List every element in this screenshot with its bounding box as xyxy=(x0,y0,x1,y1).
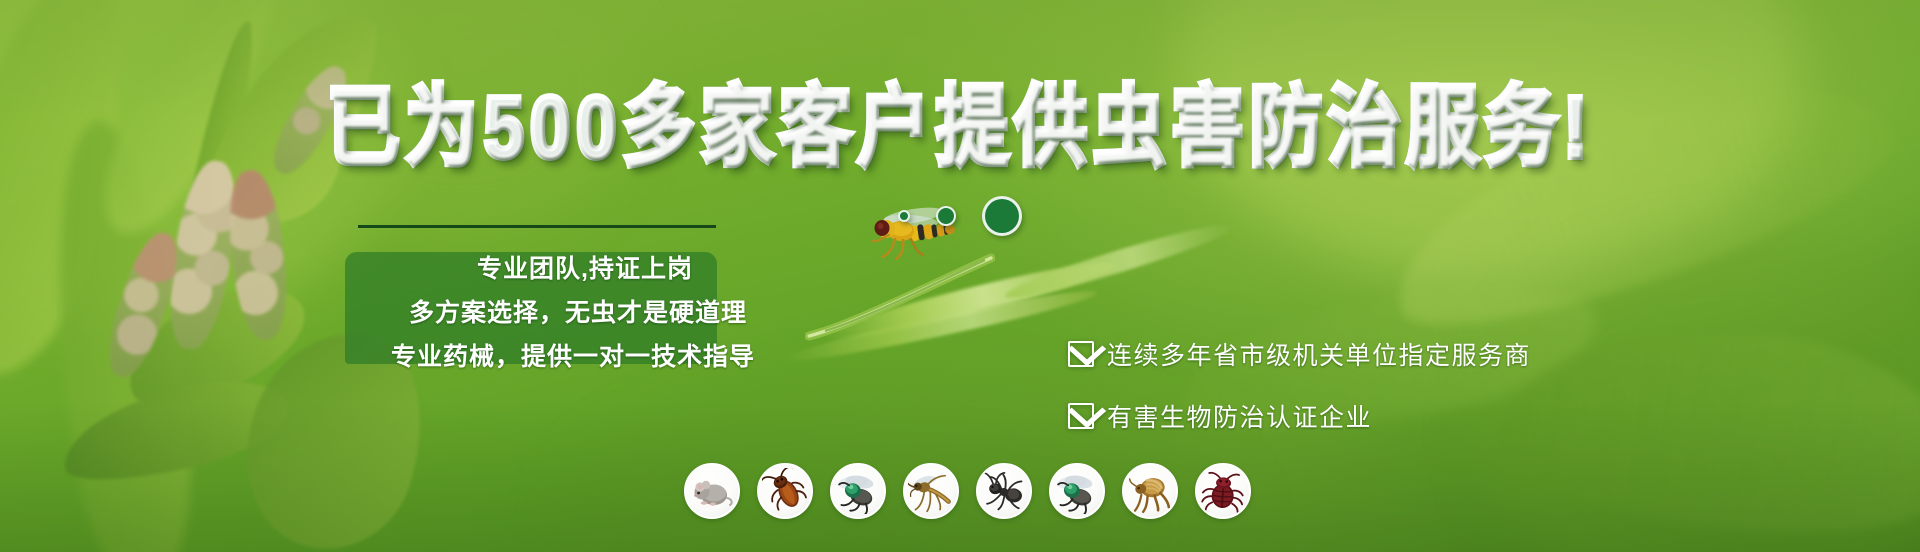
checklist-label-2: 有害生物防治认证企业 xyxy=(1107,398,1372,434)
checklist-label-1: 连续多年省市级机关单位指定服务商 xyxy=(1107,336,1531,372)
slogan-line-1: 专业团队,持证上岗 xyxy=(345,247,825,291)
mosquito-icon[interactable] xyxy=(903,463,959,519)
slogan-line-3: 专业药械，提供一对一技术指导 xyxy=(321,335,825,379)
slogan-line-2: 多方案选择，无虫才是硬道理 xyxy=(331,291,825,335)
headline-text: 已为500多家客户提供虫害防治服务! xyxy=(327,78,1593,176)
list-item: 有害生物防治认证企业 xyxy=(1068,398,1531,434)
bedbug-icon[interactable] xyxy=(1195,463,1251,519)
dot-small xyxy=(898,210,910,222)
page-title: 已为500多家客户提供虫害防治服务! xyxy=(19,84,1901,171)
pest-icon-strip xyxy=(684,463,1251,519)
fly-icon[interactable] xyxy=(830,463,886,519)
ant-icon[interactable] xyxy=(976,463,1032,519)
fly-icon[interactable] xyxy=(1049,463,1105,519)
list-item: 连续多年省市级机关单位指定服务商 xyxy=(1068,336,1531,372)
credentials-checklist: 连续多年省市级机关单位指定服务商 有害生物防治认证企业 xyxy=(1068,336,1531,434)
dot-large xyxy=(982,196,1022,236)
cockroach-icon[interactable] xyxy=(757,463,813,519)
flea-icon[interactable] xyxy=(1122,463,1178,519)
checkbox-checked-icon xyxy=(1068,341,1094,367)
decorative-dots xyxy=(0,196,1920,236)
mouse-icon[interactable] xyxy=(684,463,740,519)
pest-control-banner: 已为500多家客户提供虫害防治服务! 专业团队,持证上岗 多方案选择，无虫才是硬… xyxy=(0,0,1920,552)
dot-medium xyxy=(936,206,956,226)
slogan-panel-text: 专业团队,持证上岗 多方案选择，无虫才是硬道理 专业药械，提供一对一技术指导 xyxy=(345,247,825,379)
checkbox-checked-icon xyxy=(1068,403,1094,429)
panel-top-rule xyxy=(358,225,716,228)
